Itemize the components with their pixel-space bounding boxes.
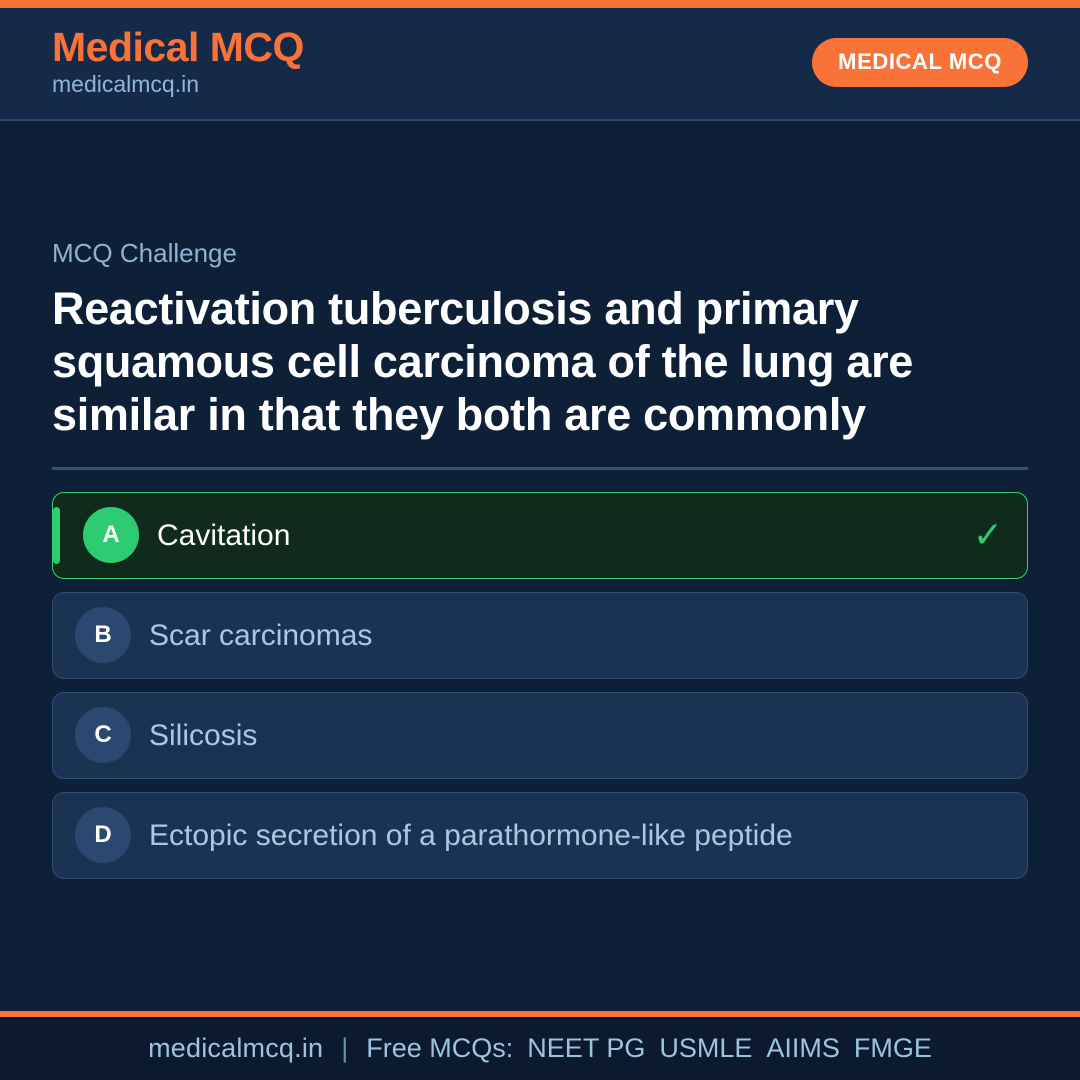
footer-tagline: Free MCQs: bbox=[366, 1033, 527, 1063]
footer-site: medicalmcq.in bbox=[148, 1033, 323, 1064]
footer-separator: | bbox=[323, 1033, 366, 1064]
correct-accent-bar bbox=[53, 507, 60, 564]
option-label: Ectopic secretion of a parathormone-like… bbox=[149, 819, 971, 853]
section-divider bbox=[52, 467, 1028, 470]
page-footer: medicalmcq.in | Free MCQs:NEET PGUSMLEAI… bbox=[0, 1017, 1080, 1080]
option-letter-badge: D bbox=[75, 807, 131, 863]
option-b[interactable]: B Scar carcinomas bbox=[52, 592, 1028, 679]
option-label: Silicosis bbox=[149, 719, 971, 753]
option-c[interactable]: C Silicosis bbox=[52, 692, 1028, 779]
footer-tag-usmle: USMLE bbox=[659, 1033, 766, 1063]
page-header: Medical MCQ medicalmcq.in MEDICAL MCQ bbox=[0, 8, 1080, 121]
option-letter-badge: A bbox=[83, 507, 139, 563]
option-letter-badge: C bbox=[75, 707, 131, 763]
mcq-card: Medical MCQ medicalmcq.in MEDICAL MCQ MC… bbox=[0, 0, 1080, 1080]
brand-title: Medical MCQ bbox=[52, 25, 304, 69]
footer-tag-aiims: AIIMS bbox=[766, 1033, 854, 1063]
footer-tag-neet-pg: NEET PG bbox=[527, 1033, 659, 1063]
top-accent-bar bbox=[0, 0, 1080, 8]
option-d[interactable]: D Ectopic secretion of a parathormone-li… bbox=[52, 792, 1028, 879]
footer-tag-fmge: FMGE bbox=[854, 1033, 932, 1063]
header-badge: MEDICAL MCQ bbox=[812, 38, 1028, 87]
question-text: Reactivation tuberculosis and primary sq… bbox=[52, 282, 1028, 441]
brand-subtitle: medicalmcq.in bbox=[52, 71, 304, 99]
options-list: A Cavitation ✓ B Scar carcinomas C Silic… bbox=[52, 492, 1028, 879]
option-a[interactable]: A Cavitation ✓ bbox=[52, 492, 1028, 579]
kicker-label: MCQ Challenge bbox=[52, 239, 1028, 268]
option-label: Cavitation bbox=[157, 519, 971, 553]
brand: Medical MCQ medicalmcq.in bbox=[52, 25, 304, 99]
option-label: Scar carcinomas bbox=[149, 619, 971, 653]
option-letter-badge: B bbox=[75, 607, 131, 663]
main-content: MCQ Challenge Reactivation tuberculosis … bbox=[0, 121, 1080, 1011]
footer-tagline-and-tags: Free MCQs:NEET PGUSMLEAIIMSFMGE bbox=[366, 1033, 932, 1064]
checkmark-icon: ✓ bbox=[973, 517, 1003, 553]
